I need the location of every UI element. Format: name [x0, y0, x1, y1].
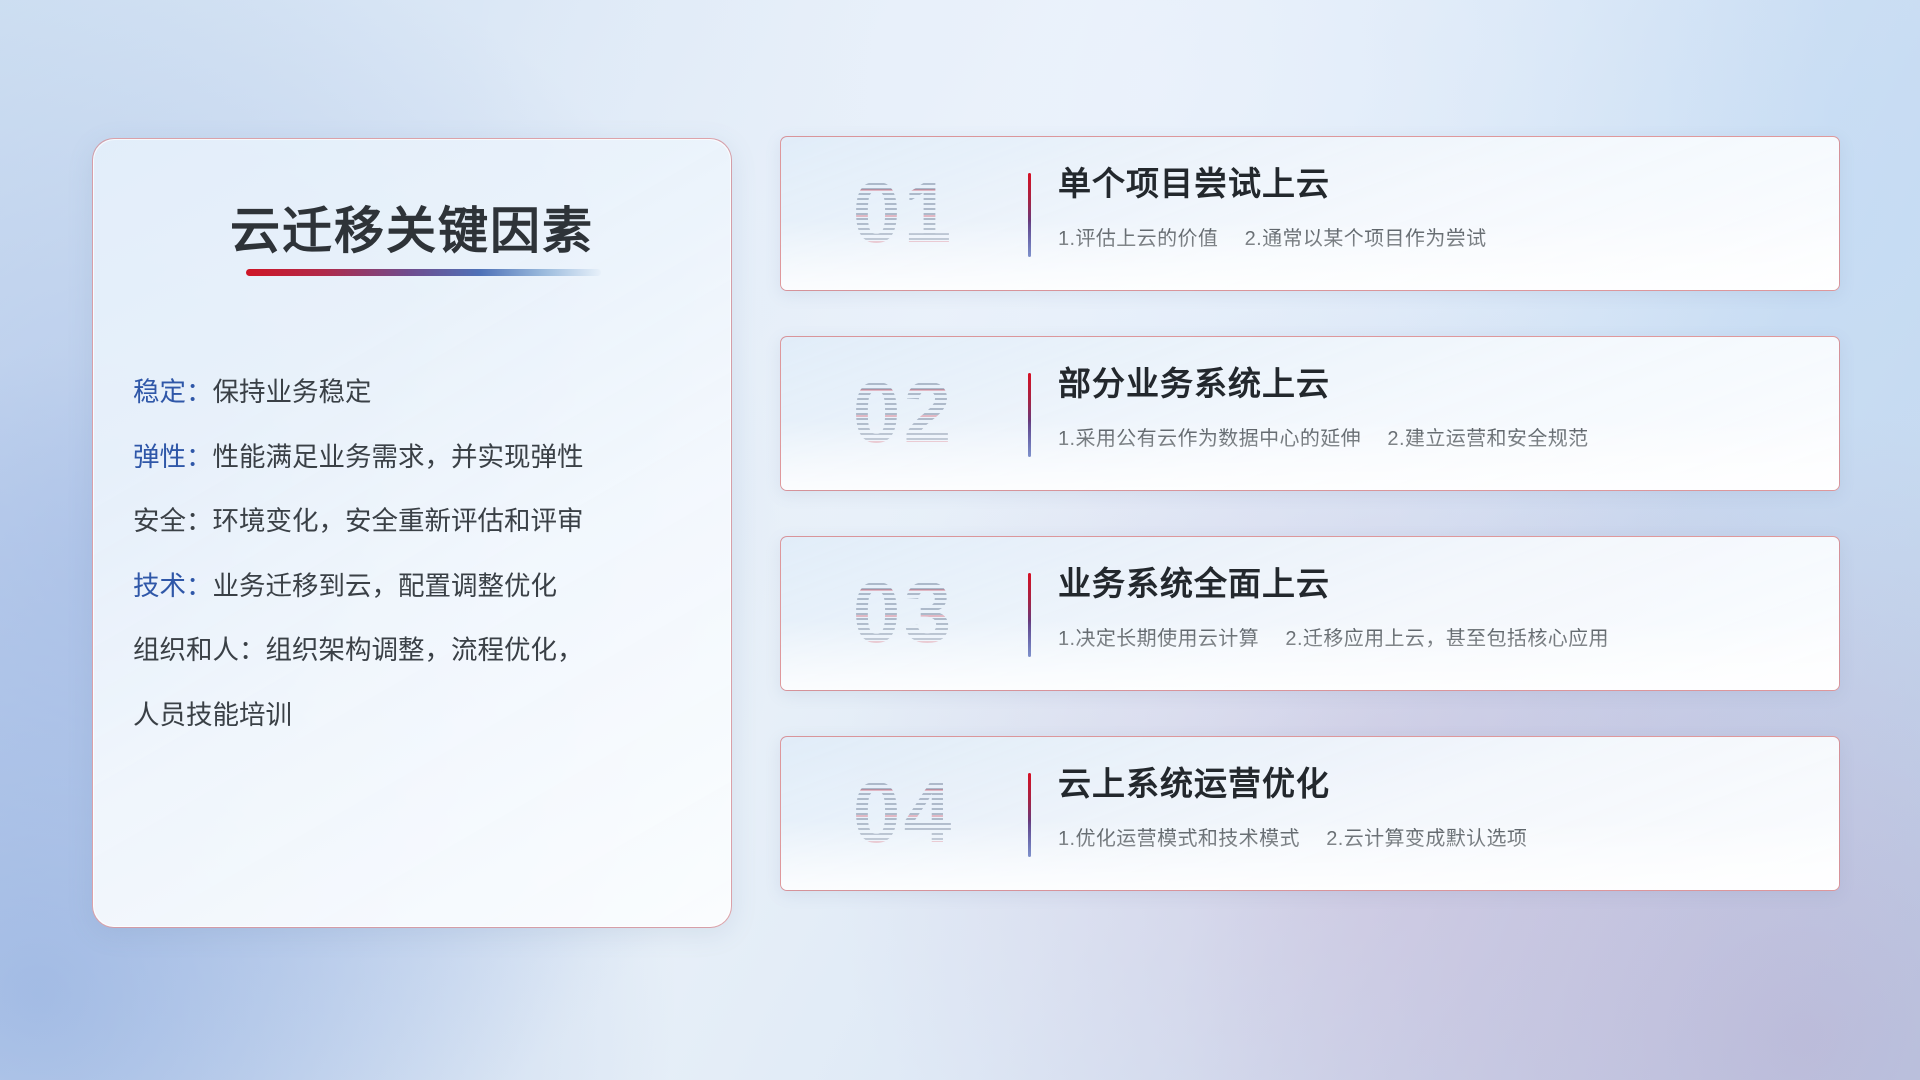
page-title: 云迁移关键因素 [93, 191, 731, 263]
stage-card[interactable]: 0101单个项目尝试上云1.评估上云的价值 2.通常以某个项目作为尝试 [780, 136, 1840, 291]
stage-heading: 单个项目尝试上云 [1058, 163, 1815, 204]
vertical-divider-accent [1028, 773, 1031, 857]
key-factors-panel: 云迁移关键因素 稳定：保持业务稳定弹性：性能满足业务需求，并实现弹性安全：环境变… [92, 138, 732, 928]
stage-number: 02 [811, 363, 996, 463]
factor-text: 组织架构调整，流程优化， [266, 637, 584, 664]
factor-list: 稳定：保持业务稳定弹性：性能满足业务需求，并实现弹性安全：环境变化，安全重新评估… [133, 379, 701, 728]
stage-description: 1.优化运营模式和技术模式 2.云计算变成默认选项 [1058, 822, 1815, 851]
stage-description: 1.采用公有云作为数据中心的延伸 2.建立运营和安全规范 [1058, 422, 1815, 451]
factor-row: 技术：业务迁移到云，配置调整优化 [133, 573, 701, 600]
vertical-divider-accent [1028, 173, 1031, 257]
factor-row: 稳定：保持业务稳定 [133, 379, 701, 406]
stage-heading: 云上系统运营优化 [1058, 763, 1815, 804]
stage-heading: 业务系统全面上云 [1058, 563, 1815, 604]
factor-row: 组织和人：组织架构调整，流程优化， [133, 637, 701, 664]
stage-card-body: 云上系统运营优化1.优化运营模式和技术模式 2.云计算变成默认选项 [1058, 763, 1815, 851]
factor-label: 组织和人： [133, 637, 266, 664]
factor-label: 安全： [133, 508, 213, 535]
stage-card[interactable]: 0404云上系统运营优化1.优化运营模式和技术模式 2.云计算变成默认选项 [780, 736, 1840, 891]
factor-text: 业务迁移到云，配置调整优化 [213, 573, 558, 600]
stage-card-body: 单个项目尝试上云1.评估上云的价值 2.通常以某个项目作为尝试 [1058, 163, 1815, 251]
vertical-divider-accent [1028, 373, 1031, 457]
stage-card-list: 0101单个项目尝试上云1.评估上云的价值 2.通常以某个项目作为尝试0202部… [780, 136, 1840, 936]
stage-number: 03 [811, 563, 996, 663]
stage-number: 01 [811, 163, 996, 263]
factor-label: 稳定： [133, 379, 213, 406]
stage-description: 1.评估上云的价值 2.通常以某个项目作为尝试 [1058, 222, 1815, 251]
slide-canvas: 云迁移关键因素 稳定：保持业务稳定弹性：性能满足业务需求，并实现弹性安全：环境变… [0, 0, 1920, 1080]
factor-row: 安全：环境变化，安全重新评估和评审 [133, 508, 701, 535]
factor-text: 环境变化，安全重新评估和评审 [213, 508, 584, 535]
stage-card-body: 业务系统全面上云1.决定长期使用云计算 2.迁移应用上云，甚至包括核心应用 [1058, 563, 1815, 651]
stage-card-body: 部分业务系统上云1.采用公有云作为数据中心的延伸 2.建立运营和安全规范 [1058, 363, 1815, 451]
title-underline-accent [246, 269, 601, 276]
factor-text: 人员技能培训 [133, 702, 292, 729]
factor-label: 技术： [133, 573, 213, 600]
stage-heading: 部分业务系统上云 [1058, 363, 1815, 404]
stage-number: 04 [811, 763, 996, 863]
factor-text: 性能满足业务需求，并实现弹性 [213, 444, 584, 471]
vertical-divider-accent [1028, 573, 1031, 657]
factor-row: 人员技能培训 [133, 702, 701, 729]
factor-label: 弹性： [133, 444, 213, 471]
stage-card[interactable]: 0303业务系统全面上云1.决定长期使用云计算 2.迁移应用上云，甚至包括核心应… [780, 536, 1840, 691]
stage-description: 1.决定长期使用云计算 2.迁移应用上云，甚至包括核心应用 [1058, 622, 1815, 651]
stage-card[interactable]: 0202部分业务系统上云1.采用公有云作为数据中心的延伸 2.建立运营和安全规范 [780, 336, 1840, 491]
factor-row: 弹性：性能满足业务需求，并实现弹性 [133, 444, 701, 471]
factor-text: 保持业务稳定 [213, 379, 372, 406]
